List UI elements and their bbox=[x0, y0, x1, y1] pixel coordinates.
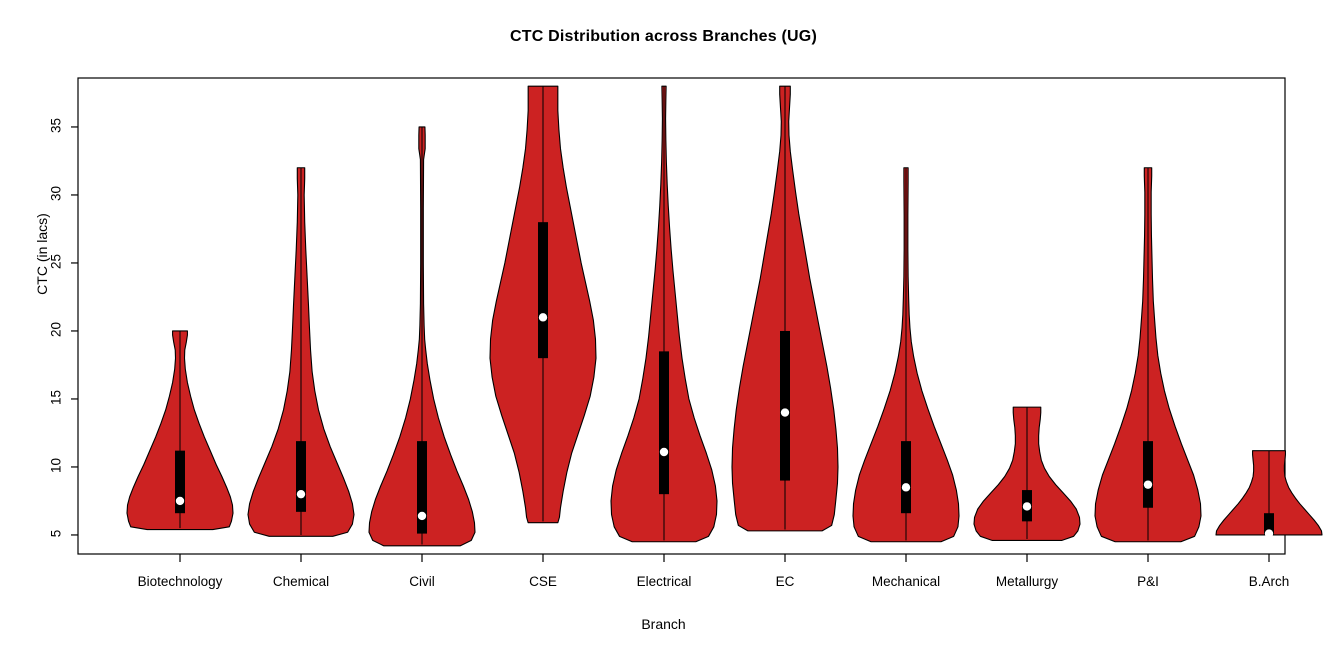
y-tick-label: 15 bbox=[49, 382, 64, 412]
x-axis bbox=[180, 554, 1269, 562]
violin-ec bbox=[732, 86, 838, 531]
violin-metallurgy bbox=[974, 407, 1080, 540]
violin-chemical bbox=[248, 168, 354, 537]
iqr-box bbox=[780, 331, 790, 481]
y-tick-label: 30 bbox=[49, 178, 64, 208]
y-tick-label: 10 bbox=[49, 450, 64, 480]
violin-b-arch bbox=[1216, 451, 1322, 538]
plot-canvas bbox=[0, 0, 1327, 653]
y-axis bbox=[71, 127, 78, 535]
iqr-box bbox=[1143, 441, 1153, 508]
x-tick-label: B.Arch bbox=[1184, 574, 1327, 589]
y-tick-label: 35 bbox=[49, 110, 64, 140]
median-marker bbox=[902, 483, 910, 491]
violin-plot-figure: CTC Distribution across Branches (UG) CT… bbox=[0, 0, 1327, 653]
violin-cse bbox=[490, 86, 596, 523]
violin-mechanical bbox=[853, 168, 959, 542]
violin-biotechnology bbox=[127, 331, 233, 530]
median-marker bbox=[297, 490, 305, 498]
iqr-box bbox=[659, 351, 669, 494]
median-marker bbox=[539, 313, 547, 321]
median-marker bbox=[781, 408, 789, 416]
y-tick-label: 20 bbox=[49, 314, 64, 344]
median-marker bbox=[1144, 480, 1152, 488]
y-tick-label: 25 bbox=[49, 246, 64, 276]
median-marker bbox=[1265, 529, 1273, 537]
median-marker bbox=[1023, 502, 1031, 510]
violin-electrical bbox=[611, 86, 717, 542]
iqr-box bbox=[538, 222, 548, 358]
median-marker bbox=[176, 497, 184, 505]
iqr-box bbox=[901, 441, 911, 513]
iqr-box bbox=[296, 441, 306, 512]
median-marker bbox=[660, 448, 668, 456]
y-tick-label: 5 bbox=[49, 518, 64, 548]
median-marker bbox=[418, 512, 426, 520]
violin-civil bbox=[369, 127, 475, 546]
violin-p-i bbox=[1095, 168, 1201, 542]
